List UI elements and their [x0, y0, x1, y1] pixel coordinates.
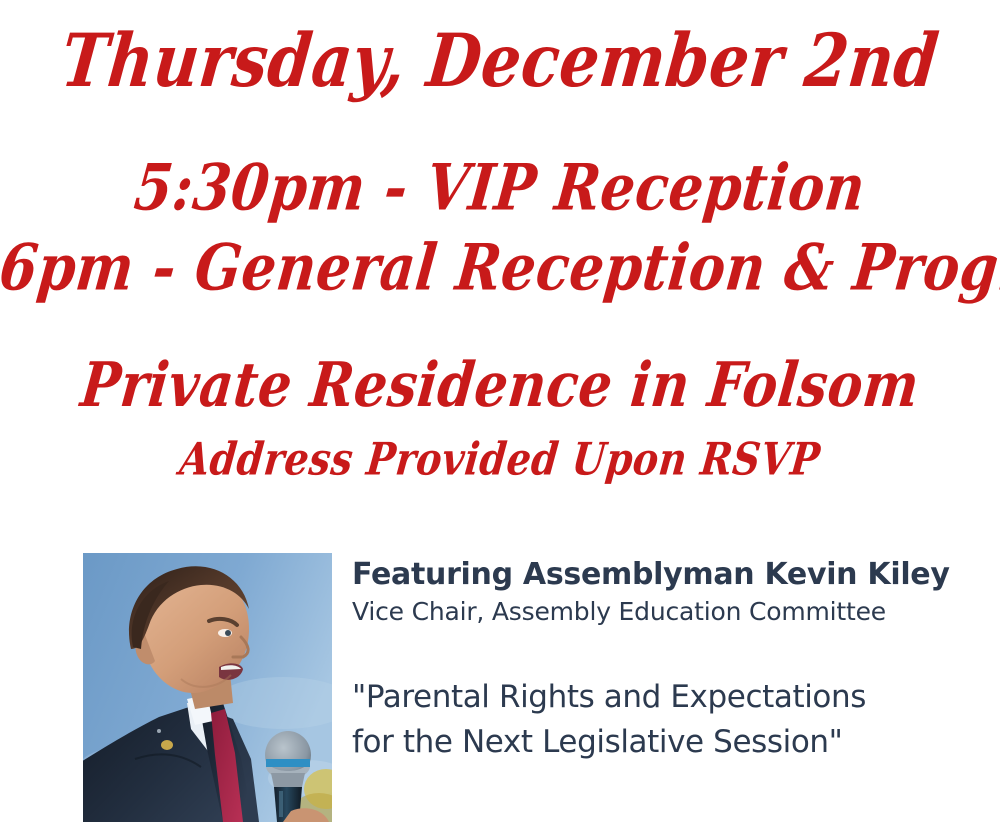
speaker-photo	[83, 553, 332, 822]
speaker-topic-line-1: "Parental Rights and Expectations	[352, 675, 972, 720]
speaker-section: Featuring Assemblyman Kevin Kiley Vice C…	[0, 553, 1000, 822]
event-invitation-flyer: Thursday, December 2nd 5:30pm - VIP Rece…	[0, 0, 1000, 822]
speaker-title: Vice Chair, Assembly Education Committee	[352, 592, 972, 627]
event-date: Thursday, December 2nd	[0, 24, 1000, 97]
event-venue: Private Residence in Folsom	[0, 355, 1000, 416]
speaker-topic: "Parental Rights and Expectations for th…	[352, 627, 972, 765]
event-address-note: Address Provided Upon RSVP	[0, 437, 1000, 482]
event-schedule-general: 6pm - General Reception & Program	[0, 235, 1000, 299]
speaker-name: Featuring Assemblyman Kevin Kiley	[352, 553, 972, 592]
speaker-topic-line-2: for the Next Legislative Session"	[352, 720, 972, 765]
event-schedule-vip: 5:30pm - VIP Reception	[0, 155, 1000, 219]
speaker-text-column: Featuring Assemblyman Kevin Kiley Vice C…	[352, 553, 972, 764]
speaker-portrait-illustration	[83, 553, 332, 822]
